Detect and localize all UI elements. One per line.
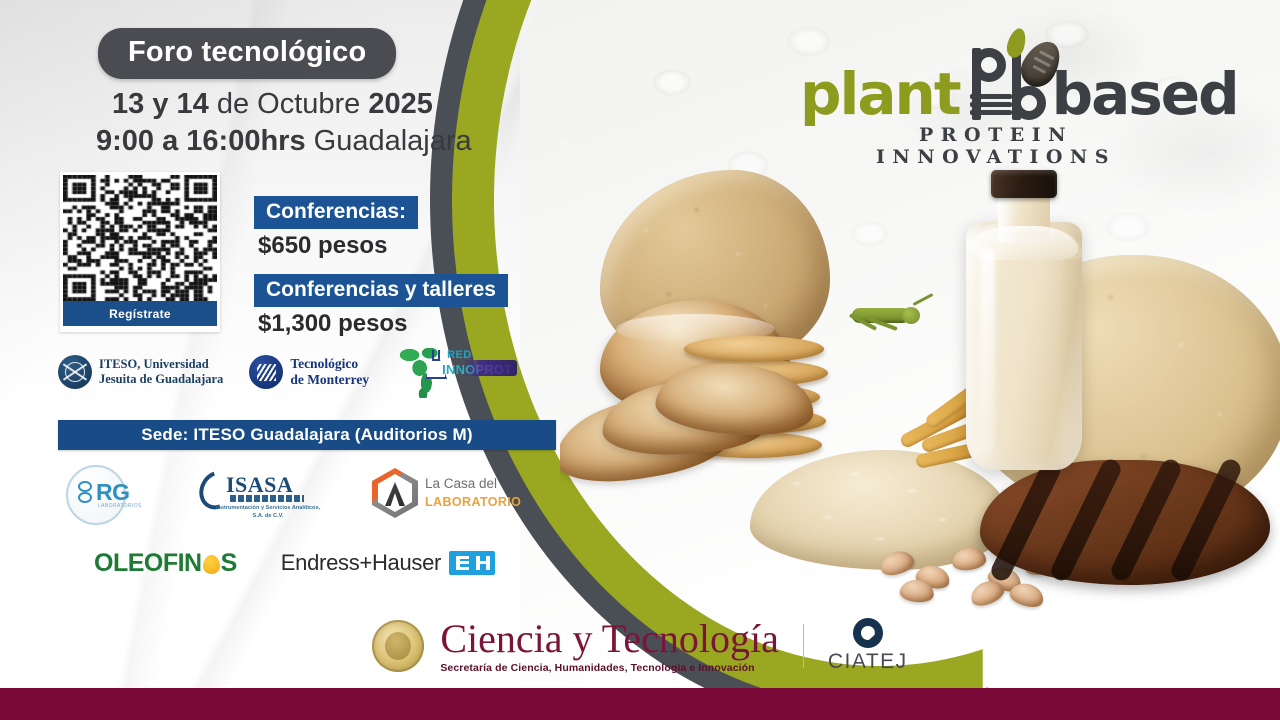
innoprot-label: INNOPROT (439, 361, 515, 378)
organizer-logo-row: ITESO, Universidad Jesuita de Guadalajar… (58, 346, 558, 398)
venue-banner: Sede: ITESO Guadalajara (Auditorios M) (58, 420, 556, 450)
rg-label: RG (96, 479, 130, 506)
tec-line2: de Monterrey (290, 372, 369, 387)
sponsor-logo-row-1: RG LABORATORIOS ISASA Instrumentación y … (62, 462, 562, 524)
government-footer: Ciencia y Tecnología Secretaría de Cienc… (0, 604, 1280, 688)
eh-monogram-icon (449, 551, 495, 575)
casa-line2: LABORATORIO (425, 495, 521, 509)
milk-bottle-icon (960, 170, 1088, 470)
time-range: 9:00 a 16:00hrs (96, 125, 306, 157)
endress-hauser-label: Endress+Hauser (281, 550, 441, 576)
casa-text: La Casa del LABORATORIO (425, 475, 521, 511)
oil-drop-icon (203, 555, 220, 574)
tec-label: Tecnológico de Monterrey (290, 356, 369, 388)
footer-subtitle: Secretaría de Ciencia, Humanidades, Tecn… (440, 662, 779, 674)
la-casa-del-laboratorio-logo: La Casa del LABORATORIO (372, 465, 522, 521)
iteso-logo: ITESO, Universidad Jesuita de Guadalajar… (58, 355, 223, 389)
event-city: Guadalajara (306, 125, 472, 157)
house-hexagon-icon (372, 468, 418, 518)
endress-hauser-logo: Endress+Hauser (281, 550, 495, 576)
footer-divider (803, 624, 804, 668)
oleofinos-part1: OLEOFIN (94, 549, 202, 577)
tec-line1: Tecnológico (290, 356, 358, 371)
innoprot-red-label: RED (447, 349, 471, 361)
iteso-line1: ITESO, Universidad (99, 357, 209, 371)
iteso-emblem-icon (58, 355, 92, 389)
casa-line1: La Casa del (425, 476, 497, 491)
event-date: 13 y 14 de Octubre 2025 (112, 88, 433, 121)
ciatej-logo: CIATEJ (828, 618, 908, 674)
sponsor-logo-row-2: OLEOFINS Endress+Hauser (94, 546, 514, 580)
event-badge: Foro tecnológico (98, 28, 396, 79)
oleofinos-logo: OLEOFINS (94, 549, 237, 578)
dna-icon (78, 481, 92, 505)
brand-word-based: based (1052, 68, 1238, 120)
price-label-conferencias: Conferencias: (254, 196, 418, 229)
iteso-label: ITESO, Universidad Jesuita de Guadalajar… (99, 357, 223, 387)
brand-tagline: PROTEIN INNOVATIONS (800, 124, 1192, 168)
footer-title: Ciencia y Tecnología (440, 619, 779, 659)
ciencia-tecnologia-block: Ciencia y Tecnología Secretaría de Cienc… (440, 619, 779, 674)
grilled-patty-icon (980, 460, 1270, 585)
rg-sublabel: LABORATORIOS (98, 503, 142, 509)
qr-code-block[interactable]: Regístrate (60, 172, 220, 332)
tec-de-monterrey-logo: Tecnológico de Monterrey (249, 355, 369, 389)
isasa-bars-icon (230, 495, 304, 502)
plant-based-logo: plant based PROTEIN INNOVATIONS (800, 58, 1200, 158)
iteso-line2: Jesuita de Guadalajara (99, 372, 223, 386)
rg-logo: RG LABORATORIOS (62, 465, 146, 521)
isasa-sublabel: Instrumentación y Servicios Analíticos, … (214, 505, 322, 520)
date-month: de Octubre (209, 88, 369, 120)
bottom-accent-bar (0, 688, 1280, 720)
date-days: 13 y 14 (112, 88, 209, 120)
price-label-conferencias-talleres: Conferencias y talleres (254, 274, 508, 307)
date-year: 2025 (368, 88, 433, 120)
poster-root: plant based PROTEIN INNOVATIONS Foro tec… (0, 0, 1280, 720)
register-button[interactable]: Regístrate (63, 301, 217, 326)
price-value-conferencias: $650 pesos (258, 232, 508, 260)
qr-code-icon[interactable] (63, 175, 217, 301)
red-innoprot-logo: RED INNOPROT (395, 346, 519, 398)
tec-emblem-icon (249, 355, 283, 389)
ciatej-emblem-icon (853, 618, 883, 648)
oleofinos-part2: S (221, 549, 237, 577)
mexico-government-seal-icon (372, 620, 424, 672)
isasa-logo: ISASA Instrumentación y Servicios Analít… (200, 464, 318, 522)
price-value-conferencias-talleres: $1,300 pesos (258, 310, 508, 338)
brand-word-plant: plant (800, 68, 960, 120)
fork-plant-mark-icon (962, 36, 1050, 122)
pricing-block: Conferencias: $650 pesos Conferencias y … (254, 196, 508, 352)
food-photography-collage (560, 150, 1280, 620)
grasshopper-icon (828, 296, 920, 336)
ciatej-label: CIATEJ (828, 650, 908, 674)
event-time: 9:00 a 16:00hrs Guadalajara (96, 125, 472, 158)
